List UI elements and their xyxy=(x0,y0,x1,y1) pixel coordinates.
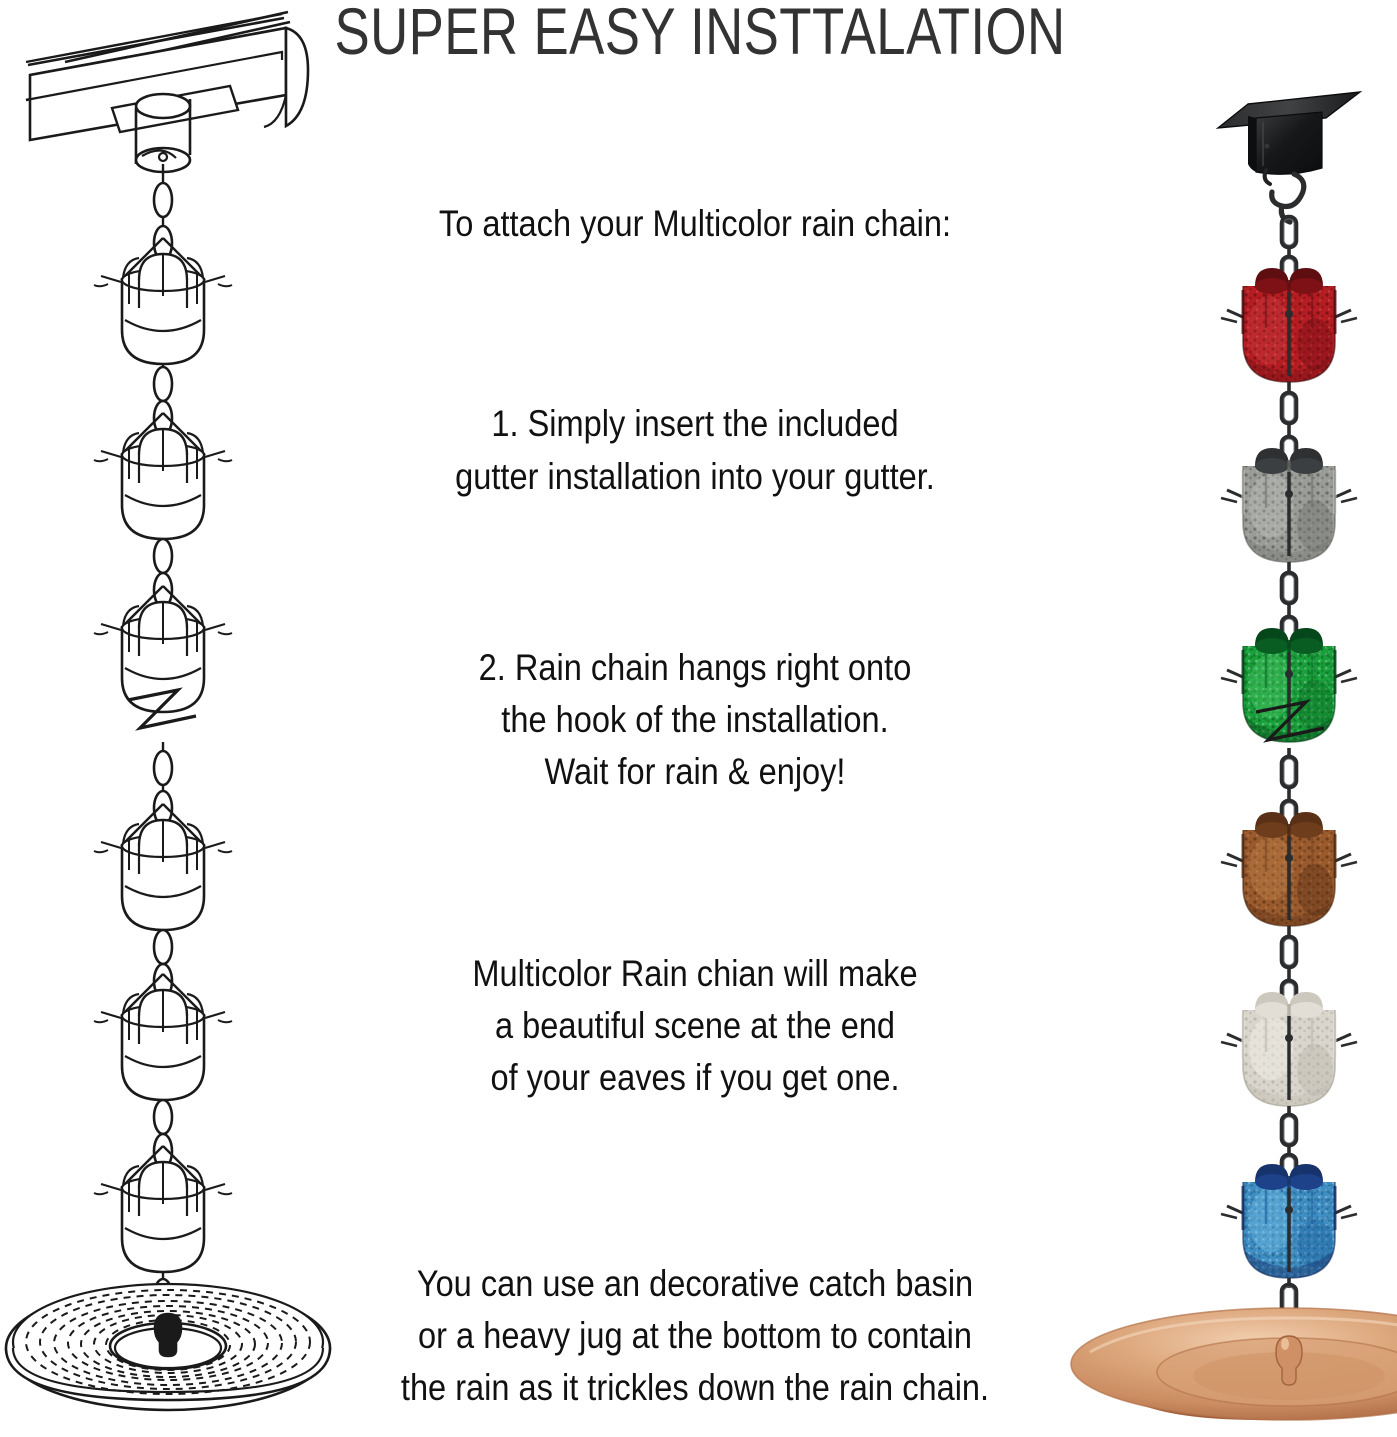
left-chain-assembly xyxy=(94,183,232,1330)
lotus-cup-1 xyxy=(94,238,232,364)
instruction-text-column: To attach your Multicolor rain chain: 1.… xyxy=(330,0,1060,1437)
step2-line-1: 2. Rain chain hangs right onto xyxy=(374,642,1016,694)
paragraph-intro: To attach your Multicolor rain chain: xyxy=(374,200,1016,248)
chain-link xyxy=(154,930,172,964)
paragraph-scene: Multicolor Rain chian will make a beauti… xyxy=(374,948,1016,1103)
rain-chain-cup-white xyxy=(1221,992,1381,1114)
chain-link xyxy=(1282,393,1296,423)
chain-link xyxy=(1282,937,1296,967)
step1-line-1: 1. Simply insert the included xyxy=(374,398,1016,451)
rain-chain-cup-silver xyxy=(1221,448,1381,570)
right-chain-assembly xyxy=(1221,217,1381,1387)
catch-basin-line-art xyxy=(6,1284,330,1410)
step2-line-3: Wait for rain & enjoy! xyxy=(374,746,1016,798)
step2-line-2: the hook of the installation. xyxy=(374,694,1016,746)
chain-link xyxy=(1282,1115,1296,1145)
paragraph-step-2: 2. Rain chain hangs right onto the hook … xyxy=(374,642,1016,797)
basin-line-1: You can use an decorative catch basin xyxy=(374,1258,1016,1310)
infographic-root: SUPER EASY INSTTALATION xyxy=(0,0,1397,1437)
scene-line-1: Multicolor Rain chian will make xyxy=(374,948,1016,1000)
lotus-cup-5 xyxy=(94,974,232,1100)
chain-link xyxy=(154,751,172,785)
lotus-cup-6 xyxy=(94,1146,232,1272)
rain-chain-cup-blue xyxy=(1221,1164,1381,1286)
rain-chain-cup-copper xyxy=(1221,812,1381,934)
chain-link xyxy=(154,183,172,217)
rain-chain-cup-red xyxy=(1221,268,1381,390)
lotus-cup-2 xyxy=(94,413,232,539)
chain-link xyxy=(154,367,172,401)
left-diagram-svg xyxy=(0,0,340,1437)
step1-line-2: gutter installation into your gutter. xyxy=(374,451,1016,504)
paragraph-step-1: 1. Simply insert the included gutter ins… xyxy=(374,398,1016,503)
paragraph-basin: You can use an decorative catch basin or… xyxy=(374,1258,1016,1413)
gutter-installer-bracket xyxy=(1218,92,1360,184)
basin-line-3: the rain as it trickles down the rain ch… xyxy=(374,1362,1016,1414)
scene-line-3: of your eaves if you get one. xyxy=(374,1052,1016,1104)
scene-line-2: a beautiful scene at the end xyxy=(374,1000,1016,1052)
chain-link xyxy=(154,539,172,573)
chain-link xyxy=(1282,573,1296,603)
chain-link xyxy=(1282,757,1296,787)
chain-link xyxy=(154,1100,172,1134)
lotus-cup-4 xyxy=(94,804,232,930)
copper-catch-basin xyxy=(1071,1308,1397,1420)
left-line-drawing-column xyxy=(0,0,340,1437)
right-diagram-svg xyxy=(1060,0,1397,1437)
basin-line-2: or a heavy jug at the bottom to contain xyxy=(374,1310,1016,1362)
intro-line-1: To attach your Multicolor rain chain: xyxy=(374,200,1016,248)
gutter-line-art xyxy=(26,12,308,186)
right-product-photo-column xyxy=(1060,0,1397,1437)
